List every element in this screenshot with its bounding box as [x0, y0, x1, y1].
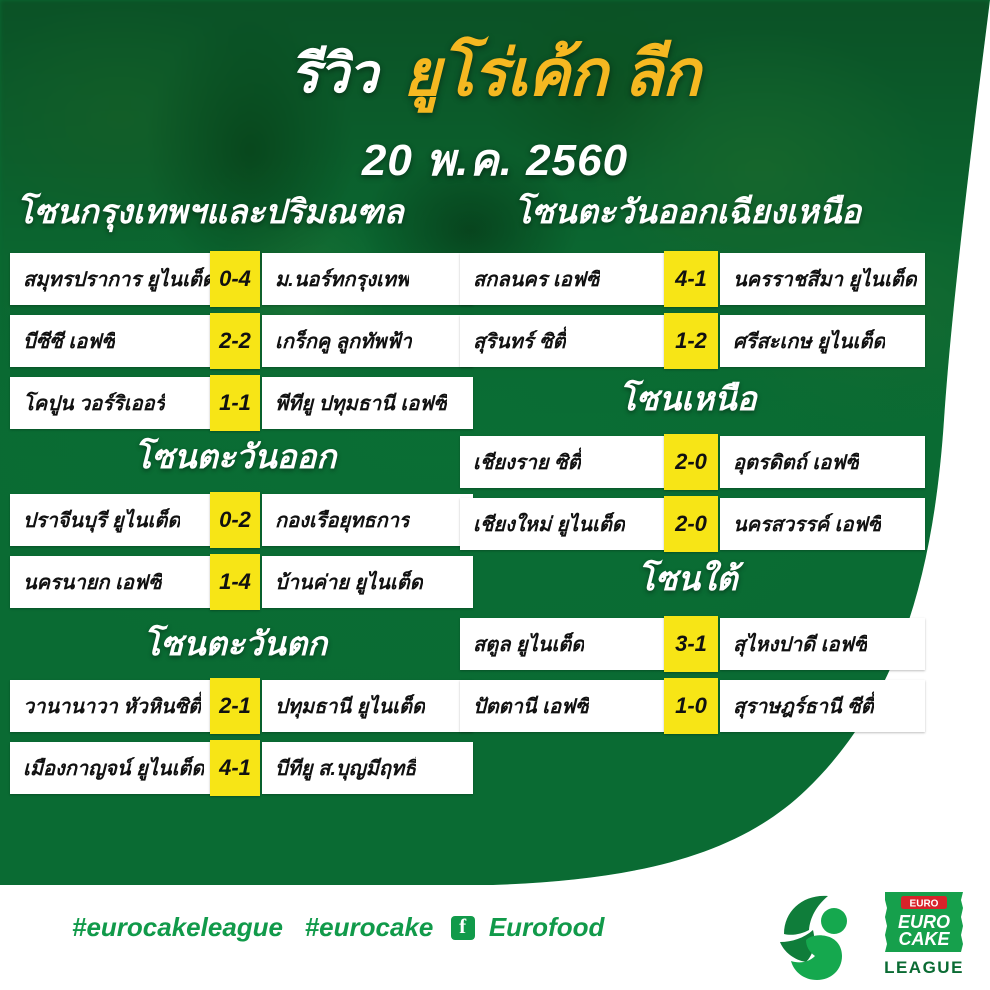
- away-team-name: ม.นอร์ทกรุงเทพ: [275, 263, 409, 295]
- score-badge: 0-4: [210, 251, 260, 307]
- footer-social-line: #eurocakeleague #eurocake Eurofood: [72, 912, 604, 943]
- home-team-name: วานานาวา หัวหินซิตี้: [23, 690, 201, 722]
- home-team-cell: ปัตตานี เอฟซี: [460, 680, 673, 732]
- zone-matches-north: เชียงราย ซิตี้ 2-0 อุตรดิตถ์ เอฟซี เชียง…: [460, 436, 915, 560]
- home-team-name: เชียงใหม่ ยูไนเต็ด: [473, 508, 625, 540]
- hashtag-eurocakeleague[interactable]: #eurocakeleague: [72, 912, 283, 942]
- away-team-cell: เกร็กคู ลูกทัพฟ้า: [262, 315, 473, 367]
- table-row: สตูล ยูไนเต็ด 3-1 สุไหงปาดี เอฟซี: [460, 618, 915, 674]
- home-team-cell: ปราจีนบุรี ยูไนเต็ด: [10, 494, 219, 546]
- away-team-name: นครสวรรค์ เอฟซี: [733, 508, 881, 540]
- away-team-cell: บีทียู ส.บุญมีฤทธิ์: [262, 742, 473, 794]
- league-word: LEAGUE: [882, 958, 966, 978]
- poster-root: รีวิวยูโร่เค้ก ลีก 20 พ.ค. 2560 โซนกรุงเ…: [0, 0, 990, 990]
- home-team-cell: นครนายก เอฟซี: [10, 556, 219, 608]
- away-team-name: อุตรดิตถ์ เอฟซี: [733, 446, 859, 478]
- table-row: เมืองกาญจน์ ยูไนเต็ด 4-1 บีทียู ส.บุญมีฤ…: [10, 742, 460, 798]
- facebook-icon[interactable]: [451, 916, 475, 940]
- home-team-name: สมุทรปราการ ยูไนเต็ด: [23, 263, 215, 295]
- zone-matches-bangkok: สมุทรปราการ ยูไนเต็ด 0-4 ม.นอร์ทกรุงเทพ …: [10, 253, 460, 439]
- home-team-name: เชียงราย ซิตี้: [473, 446, 581, 478]
- home-team-name: สตูล ยูไนเต็ด: [473, 628, 584, 660]
- away-team-cell: นครราชสีมา ยูไนเต็ด: [720, 253, 925, 305]
- away-team-name: กองเรือยุทธการ: [275, 504, 410, 536]
- away-team-cell: สุไหงปาดี เอฟซี: [720, 618, 925, 670]
- score-badge: 1-1: [210, 375, 260, 431]
- home-team-cell: สกลนคร เอฟซี: [460, 253, 673, 305]
- zone-matches-northeast: สกลนคร เอฟซี 4-1 นครราชสีมา ยูไนเต็ด สุร…: [460, 253, 915, 377]
- pack-brand-line-2: CAKE: [898, 929, 950, 949]
- away-team-cell: สุราษฎร์ธานี ซีตี้: [720, 680, 925, 732]
- headline: รีวิวยูโร่เค้ก ลีก: [0, 22, 990, 124]
- hashtag-eurocake[interactable]: #eurocake: [305, 912, 434, 942]
- score-badge: 3-1: [664, 616, 718, 672]
- title-prefix: รีวิว: [290, 44, 377, 104]
- away-team-cell: ม.นอร์ทกรุงเทพ: [262, 253, 473, 305]
- away-team-cell: กองเรือยุทธการ: [262, 494, 473, 546]
- zone-heading-bangkok: โซนกรุงเทพฯและปริมณฑล: [16, 195, 404, 228]
- home-team-cell: สมุทรปราการ ยูไนเต็ด: [10, 253, 219, 305]
- home-team-cell: สุรินทร์ ซิตี้: [460, 315, 673, 367]
- table-row: เชียงราย ซิตี้ 2-0 อุตรดิตถ์ เอฟซี: [460, 436, 915, 492]
- score-badge: 1-4: [210, 554, 260, 610]
- away-team-cell: นครสวรรค์ เอฟซี: [720, 498, 925, 550]
- score-badge: 4-1: [210, 740, 260, 796]
- home-team-name: สุรินทร์ ซิตี้: [473, 325, 566, 357]
- zone-heading-north: โซนเหนือ: [460, 382, 915, 415]
- away-team-name: เกร็กคู ลูกทัพฟ้า: [275, 325, 412, 357]
- date-line: 20 พ.ค. 2560: [0, 125, 990, 195]
- eurocake-player-mark-icon: [776, 890, 862, 982]
- score-badge: 1-2: [664, 313, 718, 369]
- score-badge: 1-0: [664, 678, 718, 734]
- away-team-name: พีทียู ปทุมธานี เอฟซี: [275, 387, 447, 419]
- pack-badge-text: EURO: [910, 899, 939, 910]
- home-team-name: บีซีซี เอฟซี: [23, 325, 115, 357]
- score-badge: 2-0: [664, 434, 718, 490]
- away-team-cell: พีทียู ปทุมธานี เอฟซี: [262, 377, 473, 429]
- score-badge: 2-1: [210, 678, 260, 734]
- away-team-name: บีทียู ส.บุญมีฤทธิ์: [275, 752, 416, 784]
- home-team-name: ปราจีนบุรี ยูไนเต็ด: [23, 504, 180, 536]
- home-team-name: โคปูน วอร์ริเออร์: [23, 387, 165, 419]
- logo-cluster: EURO EURO CAKE LEAGUE: [776, 888, 976, 988]
- home-team-cell: เมืองกาญจน์ ยูไนเต็ด: [10, 742, 219, 794]
- facebook-page-name[interactable]: Eurofood: [489, 912, 605, 942]
- away-team-name: สุราษฎร์ธานี ซีตี้: [733, 690, 874, 722]
- zone-matches-south: สตูล ยูไนเต็ด 3-1 สุไหงปาดี เอฟซี ปัตตาน…: [460, 618, 915, 742]
- away-team-cell: ปทุมธานี ยูไนเต็ด: [262, 680, 473, 732]
- score-badge: 2-0: [664, 496, 718, 552]
- table-row: นครนายก เอฟซี 1-4 บ้านค่าย ยูไนเต็ด: [10, 556, 460, 612]
- home-team-cell: โคปูน วอร์ริเออร์: [10, 377, 219, 429]
- zone-heading-northeast: โซนตะวันออกเฉียงเหนือ: [460, 195, 915, 228]
- away-team-cell: บ้านค่าย ยูไนเต็ด: [262, 556, 473, 608]
- zone-matches-west: วานานาวา หัวหินซิตี้ 2-1 ปทุมธานี ยูไนเต…: [10, 680, 460, 804]
- away-team-cell: อุตรดิตถ์ เอฟซี: [720, 436, 925, 488]
- home-team-cell: บีซีซี เอฟซี: [10, 315, 219, 367]
- away-team-name: บ้านค่าย ยูไนเต็ด: [275, 566, 423, 598]
- home-team-cell: เชียงใหม่ ยูไนเต็ด: [460, 498, 673, 550]
- away-team-name: ปทุมธานี ยูไนเต็ด: [275, 690, 425, 722]
- zone-heading-west: โซนตะวันตก: [10, 627, 460, 660]
- score-badge: 2-2: [210, 313, 260, 369]
- home-team-cell: วานานาวา หัวหินซิตี้: [10, 680, 219, 732]
- zone-heading-east: โซนตะวันออก: [10, 440, 460, 473]
- title-main: ยูโร่เค้ก ลีก: [403, 37, 699, 109]
- home-team-cell: สตูล ยูไนเต็ด: [460, 618, 673, 670]
- away-team-name: สุไหงปาดี เอฟซี: [733, 628, 867, 660]
- table-row: สุรินทร์ ซิตี้ 1-2 ศรีสะเกษ ยูไนเต็ด: [460, 315, 915, 371]
- score-badge: 4-1: [664, 251, 718, 307]
- zone-heading-south: โซนใต้: [460, 562, 915, 595]
- home-team-name: เมืองกาญจน์ ยูไนเต็ด: [23, 752, 204, 784]
- table-row: บีซีซี เอฟซี 2-2 เกร็กคู ลูกทัพฟ้า: [10, 315, 460, 371]
- table-row: โคปูน วอร์ริเออร์ 1-1 พีทียู ปทุมธานี เอ…: [10, 377, 460, 433]
- away-team-name: นครราชสีมา ยูไนเต็ด: [733, 263, 917, 295]
- table-row: ปราจีนบุรี ยูไนเต็ด 0-2 กองเรือยุทธการ: [10, 494, 460, 550]
- table-row: ปัตตานี เอฟซี 1-0 สุราษฎร์ธานี ซีตี้: [460, 680, 915, 736]
- table-row: สกลนคร เอฟซี 4-1 นครราชสีมา ยูไนเต็ด: [460, 253, 915, 309]
- away-team-name: ศรีสะเกษ ยูไนเต็ด: [733, 325, 885, 357]
- table-row: วานานาวา หัวหินซิตี้ 2-1 ปทุมธานี ยูไนเต…: [10, 680, 460, 736]
- table-row: สมุทรปราการ ยูไนเต็ด 0-4 ม.นอร์ทกรุงเทพ: [10, 253, 460, 309]
- home-team-cell: เชียงราย ซิตี้: [460, 436, 673, 488]
- table-row: เชียงใหม่ ยูไนเต็ด 2-0 นครสวรรค์ เอฟซี: [460, 498, 915, 554]
- home-team-name: นครนายก เอฟซี: [23, 566, 162, 598]
- score-badge: 0-2: [210, 492, 260, 548]
- zone-matches-east: ปราจีนบุรี ยูไนเต็ด 0-2 กองเรือยุทธการ น…: [10, 494, 460, 618]
- home-team-name: ปัตตานี เอฟซี: [473, 690, 589, 722]
- eurocake-pack-logo: EURO EURO CAKE: [882, 890, 966, 954]
- home-team-name: สกลนคร เอฟซี: [473, 263, 600, 295]
- away-team-cell: ศรีสะเกษ ยูไนเต็ด: [720, 315, 925, 367]
